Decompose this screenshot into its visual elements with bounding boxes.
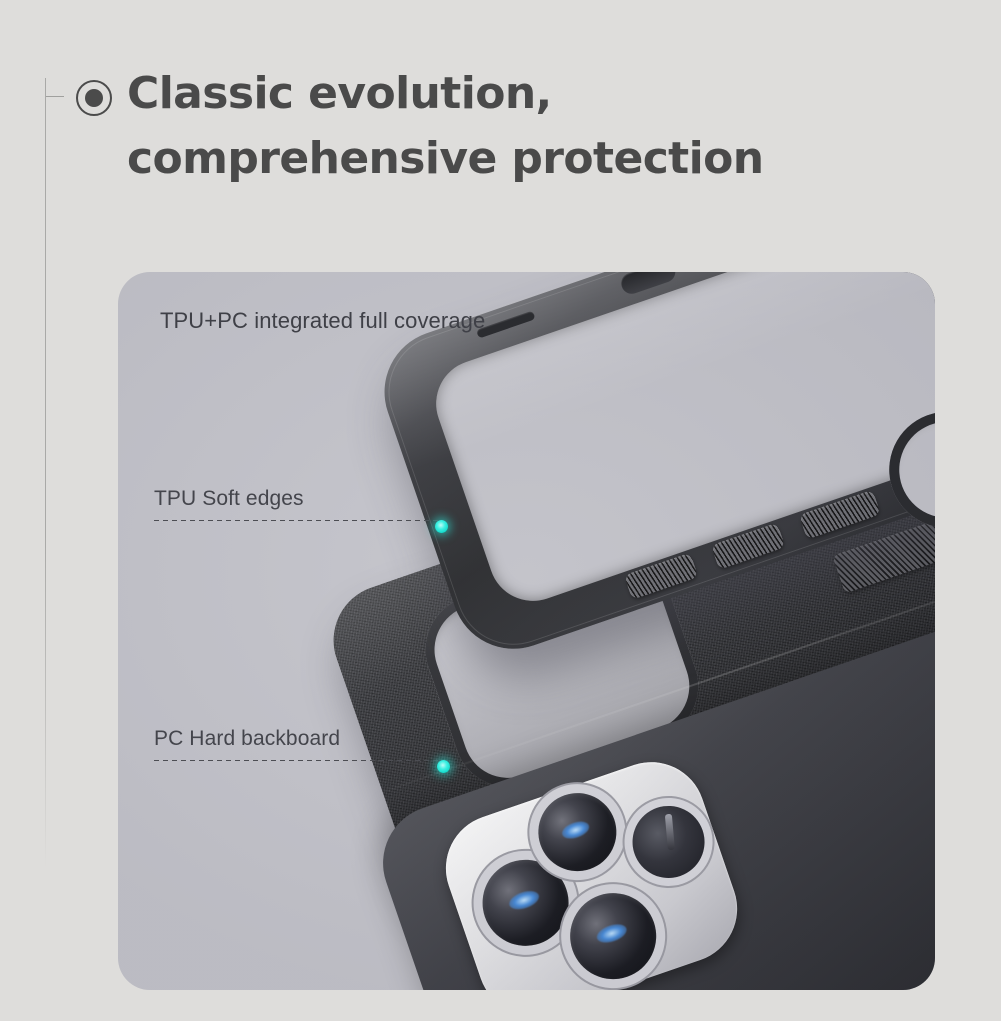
callout-pc-hard-backboard-leader-line [154,760,442,761]
card-title: TPU+PC integrated full coverage [160,308,485,334]
product-photo [118,272,935,990]
callout-tpu-soft-edges-leader-line [154,520,442,521]
left-vertical-rule [45,78,46,868]
callout-pc-hard-backboard: PC Hard backboard [154,707,594,767]
callout-tpu-soft-edges-label: TPU Soft edges [154,487,304,511]
page-title: Classic evolution, comprehensive protect… [127,62,956,191]
target-dot-icon [76,80,112,116]
heading-block: Classic evolution, comprehensive protect… [76,62,956,191]
camera-lens-telephoto [559,881,668,990]
camera-flash [623,796,715,888]
callout-tpu-soft-edges: TPU Soft edges [154,467,574,527]
left-rule-tick [46,96,64,97]
callout-pc-hard-backboard-label: PC Hard backboard [154,727,340,751]
target-dot-icon-center [85,89,103,107]
product-feature-card: TPU+PC integrated full coverage [118,272,935,990]
callout-pc-hard-backboard-marker-dot [437,760,450,773]
callout-tpu-soft-edges-marker-dot [435,520,448,533]
